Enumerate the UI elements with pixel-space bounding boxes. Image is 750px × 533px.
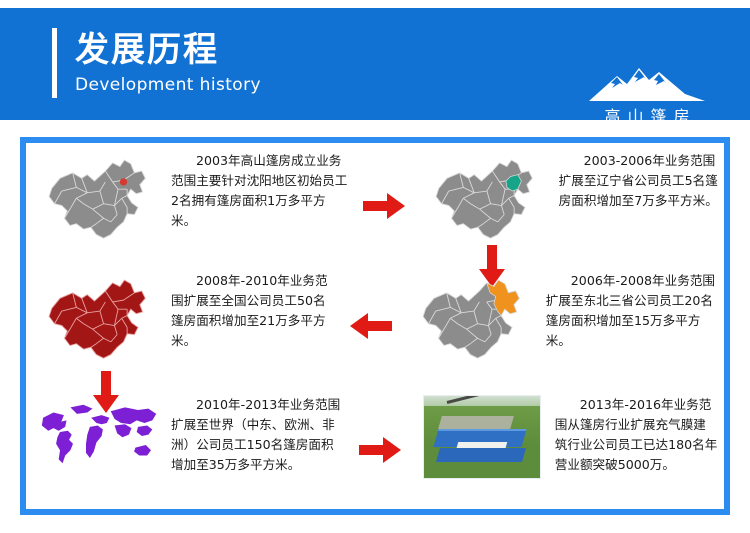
infographic-page: 发展历程 Development history 高山篷房: [0, 0, 750, 533]
arrow-right-icon: [363, 190, 405, 222]
china-map-icon: [414, 271, 532, 371]
text-cell-step-2013-2016: 2013年-2016年业务范围从篷房行业扩展充气膜建筑行业公司员工已达180名年…: [555, 395, 724, 475]
map-cell-step-2006-2008: [401, 271, 546, 371]
step-description: 2006年-2008年业务范围扩展至东北三省公司员工20名篷房面积增加至15万多…: [546, 271, 718, 351]
arrow-cell-3: [350, 395, 410, 505]
map-cell-step-2008-2010: [26, 271, 171, 371]
map-cell-step-2003-2006: [414, 151, 559, 251]
map-cell-step-2010-2013: [26, 395, 171, 473]
step-description: 2008年-2010年业务范围扩展至全国公司员工50名篷房面积增加至21万多平方…: [171, 271, 335, 351]
text-cell-step-2006-2008: 2006年-2008年业务范围扩展至东北三省公司员工20名篷房面积增加至15万多…: [546, 271, 724, 351]
header-title-group: 发展历程 Development history: [52, 28, 261, 98]
arrow-cell-1: [354, 151, 414, 261]
text-cell-step-2008-2010: 2008年-2010年业务范围扩展至全国公司员工50名篷房面积增加至21万多平方…: [171, 271, 341, 351]
page-title: 发展历程: [75, 29, 261, 71]
text-cell-step-2003: 2003年高山篷房成立业务范围主要针对沈阳地区初始员工2名拥有篷房面积1万多平方…: [171, 151, 354, 231]
arrow-cell-2: [341, 271, 401, 381]
text-cell-step-2010-2013: 2010年-2013年业务范围扩展至世界（中东、欧洲、非洲）公司员工150名篷房…: [171, 395, 350, 475]
header-texts: 发展历程 Development history: [75, 28, 261, 98]
arrow-left-icon: [350, 310, 392, 342]
china-map-icon: [40, 151, 158, 251]
china-map-icon: [427, 151, 545, 251]
page-header: 发展历程 Development history 高山篷房: [0, 8, 750, 120]
step-description: 2003年高山篷房成立业务范围主要针对沈阳地区初始员工2名拥有篷房面积1万多平方…: [171, 151, 348, 231]
timeline-row-1: 2003年高山篷房成立业务范围主要针对沈阳地区初始员工2名拥有篷房面积1万多平方…: [26, 151, 724, 266]
page-subtitle: Development history: [75, 73, 261, 97]
factory-photo: [423, 395, 541, 479]
arrow-right-icon: [359, 434, 401, 466]
photo-cell-step-2013-2016: [410, 395, 555, 479]
timeline-row-2: 2008年-2010年业务范围扩展至全国公司员工50名篷房面积增加至21万多平方…: [26, 271, 724, 389]
timeline-row-3: 2010年-2013年业务范围扩展至世界（中东、欧洲、非洲）公司员工150名篷房…: [26, 395, 724, 513]
step-description: 2010年-2013年业务范围扩展至世界（中东、欧洲、非洲）公司员工150名篷房…: [171, 395, 344, 475]
brand-name: 高山篷房: [582, 103, 712, 120]
world-map-icon: [34, 395, 164, 473]
photo-roof-lower: [436, 448, 526, 462]
title-accent-bar: [52, 28, 57, 98]
content-frame-inner: 2003年高山篷房成立业务范围主要针对沈阳地区初始员工2名拥有篷房面积1万多平方…: [26, 143, 724, 509]
map-cell-step-2003: [26, 151, 171, 251]
china-map-icon: [40, 271, 158, 371]
content-frame: 2003年高山篷房成立业务范围主要针对沈阳地区初始员工2名拥有篷房面积1万多平方…: [20, 137, 730, 515]
step-description: 2013年-2016年业务范围从篷房行业扩展充气膜建筑行业公司员工已达180名年…: [555, 395, 718, 475]
text-cell-step-2003-2006: 2003-2006年业务范围扩展至辽宁省公司员工5名篷房面积增加至7万多平方米。: [559, 151, 724, 211]
step-description: 2003-2006年业务范围扩展至辽宁省公司员工5名篷房面积增加至7万多平方米。: [559, 151, 718, 211]
photo-yard: [439, 416, 515, 429]
mountain-icon: [587, 64, 707, 102]
brand-logo: 高山篷房: [582, 64, 712, 120]
